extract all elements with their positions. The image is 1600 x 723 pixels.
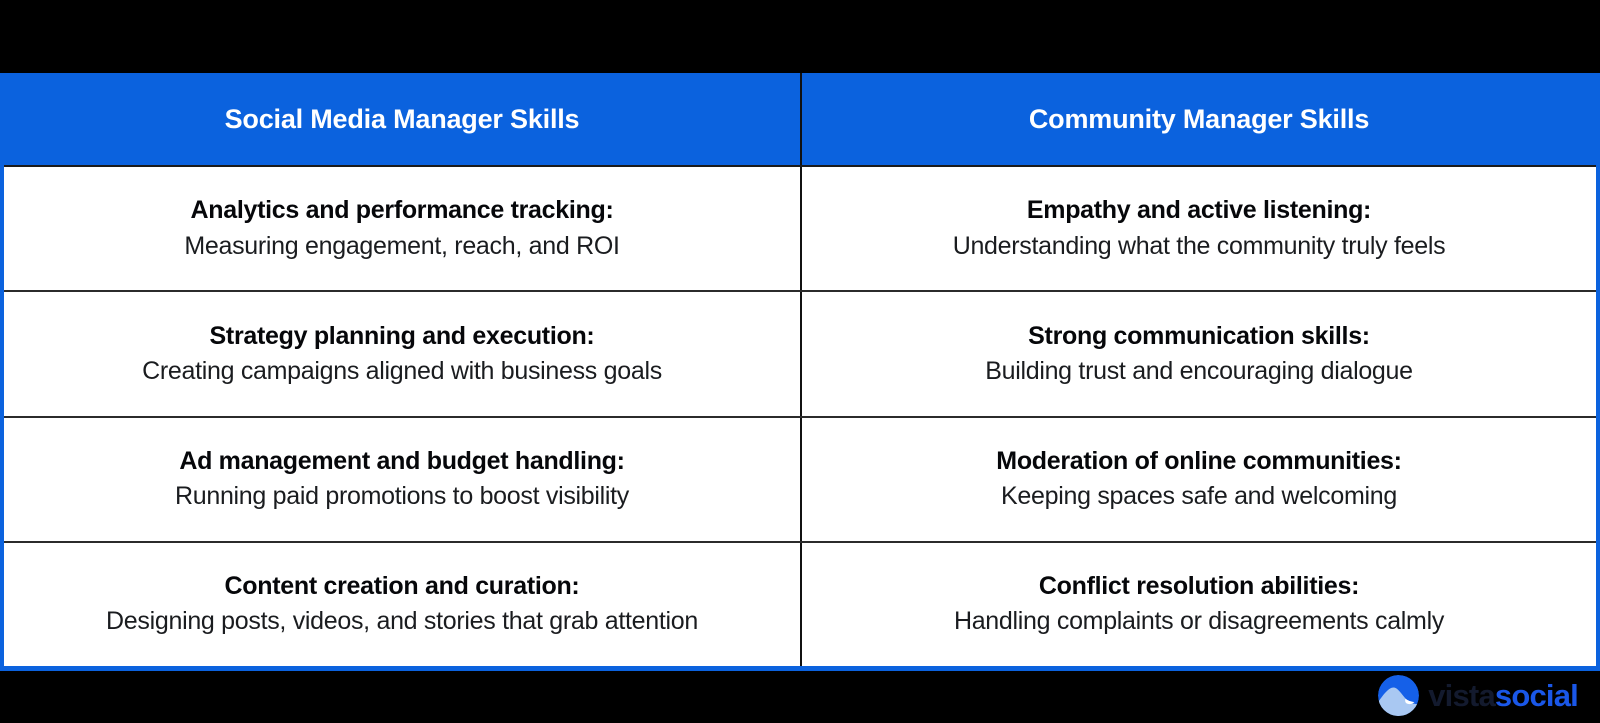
cell-description: Measuring engagement, reach, and ROI [184, 231, 619, 262]
logo-word-vista: vista [1428, 678, 1495, 713]
cell-description: Running paid promotions to boost visibil… [175, 481, 629, 512]
cell-title: Analytics and performance tracking: [191, 195, 614, 226]
cell-description: Building trust and encouraging dialogue [985, 356, 1413, 387]
cell-description: Keeping spaces safe and welcoming [1001, 481, 1397, 512]
vista-social-mountain-icon [1378, 675, 1419, 716]
table-row: Analytics and performance tracking: Meas… [4, 167, 1596, 292]
cell-title: Strategy planning and execution: [210, 321, 595, 352]
table-cell-community-1: Empathy and active listening: Understand… [800, 167, 1596, 290]
cell-description: Creating campaigns aligned with business… [142, 356, 662, 387]
table-cell-community-4: Conflict resolution abilities: Handling … [800, 543, 1596, 666]
footer-bar: vistasocial [0, 671, 1600, 723]
cell-title: Moderation of online communities: [996, 446, 1401, 477]
screenshot-canvas: Social Media Manager Skills Community Ma… [0, 0, 1600, 723]
table-cell-community-2: Strong communication skills: Building tr… [800, 292, 1596, 415]
vista-social-logo: vistasocial [1378, 675, 1578, 716]
table-cell-social-media-3: Ad management and budget handling: Runni… [4, 418, 800, 541]
table-row: Content creation and curation: Designing… [4, 543, 1596, 666]
column-header-community-manager: Community Manager Skills [800, 73, 1596, 165]
cell-title: Empathy and active listening: [1027, 195, 1371, 226]
logo-word-social: social [1495, 678, 1578, 713]
table-row: Ad management and budget handling: Runni… [4, 418, 1596, 543]
cell-title: Content creation and curation: [225, 571, 580, 602]
skills-comparison-table: Social Media Manager Skills Community Ma… [0, 73, 1600, 671]
table-body: Analytics and performance tracking: Meas… [4, 167, 1596, 666]
cell-title: Ad management and budget handling: [179, 446, 624, 477]
cell-title: Conflict resolution abilities: [1039, 571, 1359, 602]
cell-title: Strong communication skills: [1028, 321, 1370, 352]
column-header-social-media-manager: Social Media Manager Skills [4, 73, 800, 165]
cell-description: Handling complaints or disagreements cal… [954, 606, 1444, 637]
cell-description: Designing posts, videos, and stories tha… [106, 606, 698, 637]
table-cell-community-3: Moderation of online communities: Keepin… [800, 418, 1596, 541]
table-row: Strategy planning and execution: Creatin… [4, 292, 1596, 417]
table-cell-social-media-2: Strategy planning and execution: Creatin… [4, 292, 800, 415]
logo-wordmark: vistasocial [1428, 680, 1578, 711]
table-cell-social-media-1: Analytics and performance tracking: Meas… [4, 167, 800, 290]
cell-description: Understanding what the community truly f… [953, 231, 1446, 262]
table-cell-social-media-4: Content creation and curation: Designing… [4, 543, 800, 666]
table-header-row: Social Media Manager Skills Community Ma… [4, 73, 1596, 167]
